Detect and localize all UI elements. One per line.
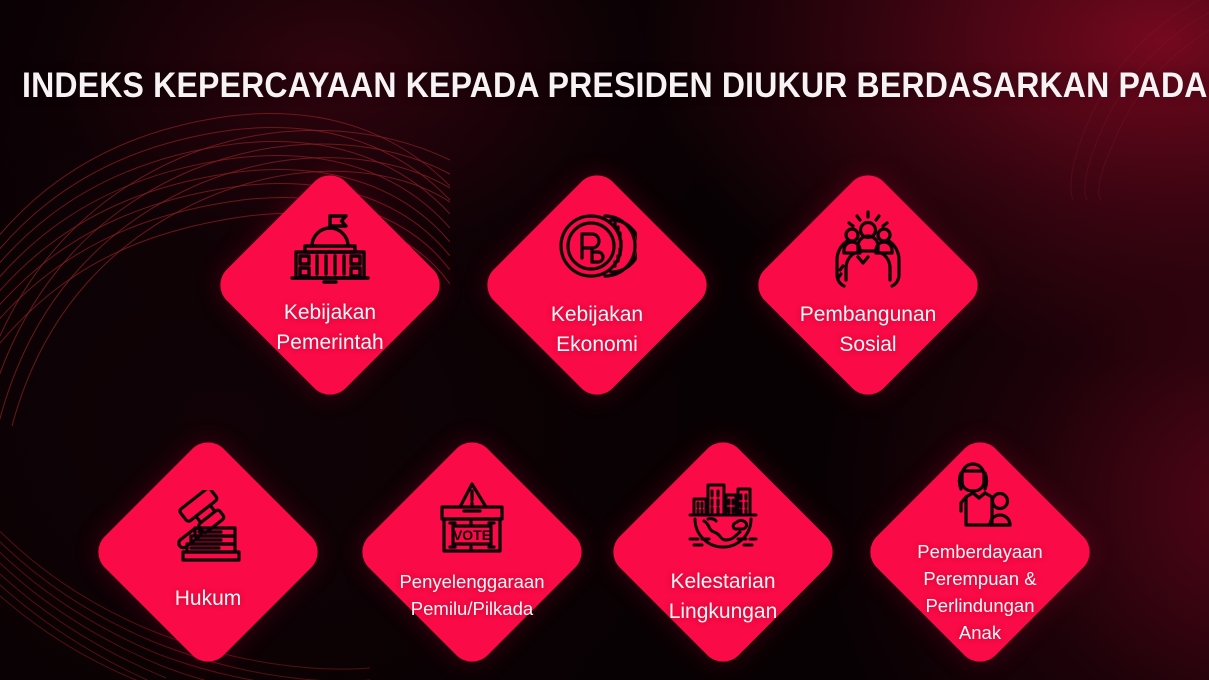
ballot-vote-text: VOTE <box>453 527 491 543</box>
slide-canvas: INDEKS KEPERCAYAAN KEPADA PRESIDEN DIUKU… <box>0 0 1209 680</box>
dimension-card-kebijakan-pemerintah[interactable]: Kebijakan Pemerintah <box>212 167 448 403</box>
hands-holding-people-icon <box>825 210 911 288</box>
dimension-card-kelestarian-lingkungan[interactable]: Kelestarian Lingkungan <box>605 434 841 670</box>
dimension-card-penyelenggaraan-pemilu[interactable]: VOTE Penyelenggaraan Pemilu/Pilkada <box>354 434 590 670</box>
rupiah-coin-icon <box>557 210 637 286</box>
government-building-icon <box>286 212 374 284</box>
dimension-label: Penyelenggaraan Pemilu/Pilkada <box>399 569 544 623</box>
dimension-card-pemberdayaan-perempuan[interactable]: Pemberdayaan Perempuan & Perlindungan An… <box>862 434 1098 670</box>
dimension-label: Pemberdayaan Perempuan & Perlindungan An… <box>917 539 1042 646</box>
dimension-label: Kebijakan Ekonomi <box>551 300 643 360</box>
dimension-label: Hukum <box>175 584 242 614</box>
ballot-box-vote-icon: VOTE <box>430 481 514 557</box>
dimension-label: Pembangunan Sosial <box>800 300 937 360</box>
woman-and-child-icon <box>942 457 1018 531</box>
dimension-card-pembangunan-sosial[interactable]: Pembangunan Sosial <box>750 167 986 403</box>
dimension-label: Kelestarian Lingkungan <box>669 567 778 627</box>
dimension-label: Kebijakan Pemerintah <box>276 298 383 358</box>
page-title-main: INDEKS KEPERCAYAAN KEPADA PRESIDEN DIUKU… <box>22 66 1209 105</box>
gavel-books-icon <box>165 490 251 568</box>
dimension-card-hukum[interactable]: Hukum <box>90 434 326 670</box>
page-title: INDEKS KEPERCAYAAN KEPADA PRESIDEN DIUKU… <box>22 68 1209 103</box>
dimension-card-kebijakan-ekonomi[interactable]: Kebijakan Ekonomi <box>479 167 715 403</box>
city-globe-environment-icon <box>680 477 766 553</box>
